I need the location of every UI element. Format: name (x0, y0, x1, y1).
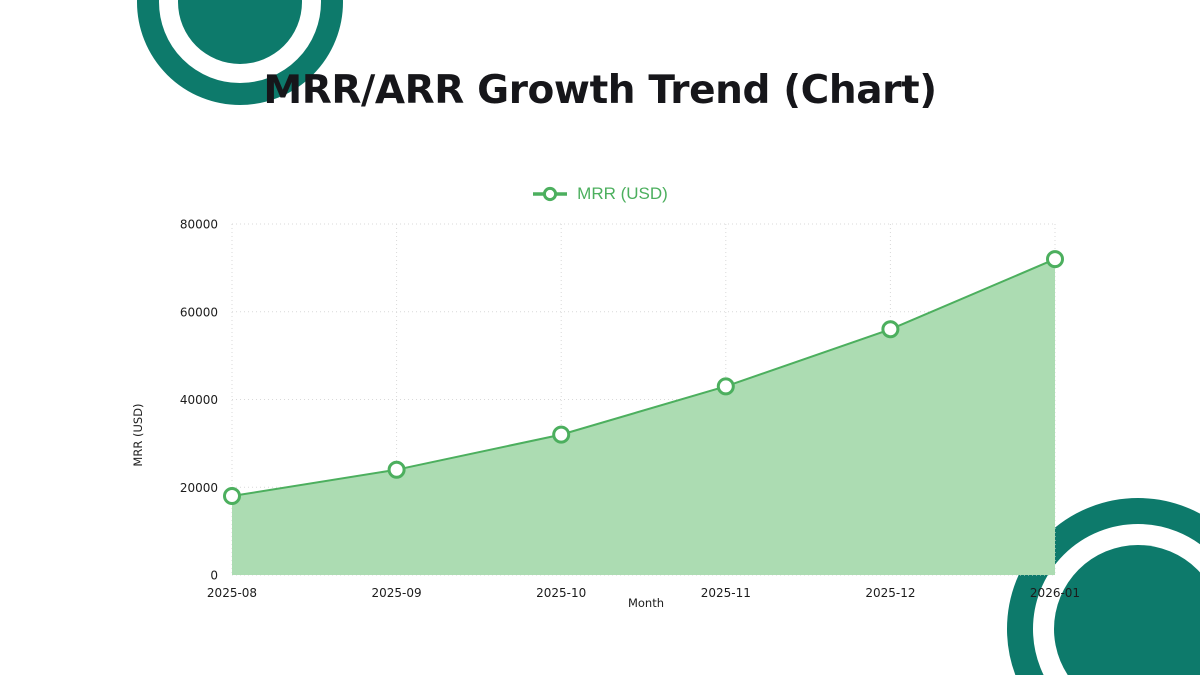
y-tick-label: 40000 (180, 393, 218, 407)
y-axis-ticks: 020000400006000080000 (180, 218, 218, 583)
page-title: MRR/ARR Growth Trend (Chart) (0, 68, 1200, 113)
chart-container: MRR (USD) 020000400006000080000 2025-082… (0, 150, 1200, 640)
x-tick-label: 2025-08 (207, 586, 257, 600)
ring-inner-disc (178, 0, 302, 64)
chart-plot: 020000400006000080000 2025-082025-092025… (0, 150, 1200, 640)
x-axis-title: Month (628, 596, 664, 610)
y-tick-label: 60000 (180, 305, 218, 319)
y-tick-label: 20000 (180, 481, 218, 495)
y-tick-label: 0 (210, 569, 218, 583)
x-tick-label: 2025-12 (865, 586, 915, 600)
x-tick-label: 2025-09 (372, 586, 422, 600)
x-tick-label: 2026-01 (1030, 586, 1080, 600)
y-tick-label: 80000 (180, 218, 218, 232)
x-tick-label: 2025-10 (536, 586, 586, 600)
x-tick-label: 2025-11 (701, 586, 751, 600)
slide-canvas: MRR/ARR Growth Trend (Chart) MRR (USD) 0… (0, 0, 1200, 675)
y-axis-title: MRR (USD) (131, 403, 145, 466)
area-fill (232, 259, 1055, 575)
